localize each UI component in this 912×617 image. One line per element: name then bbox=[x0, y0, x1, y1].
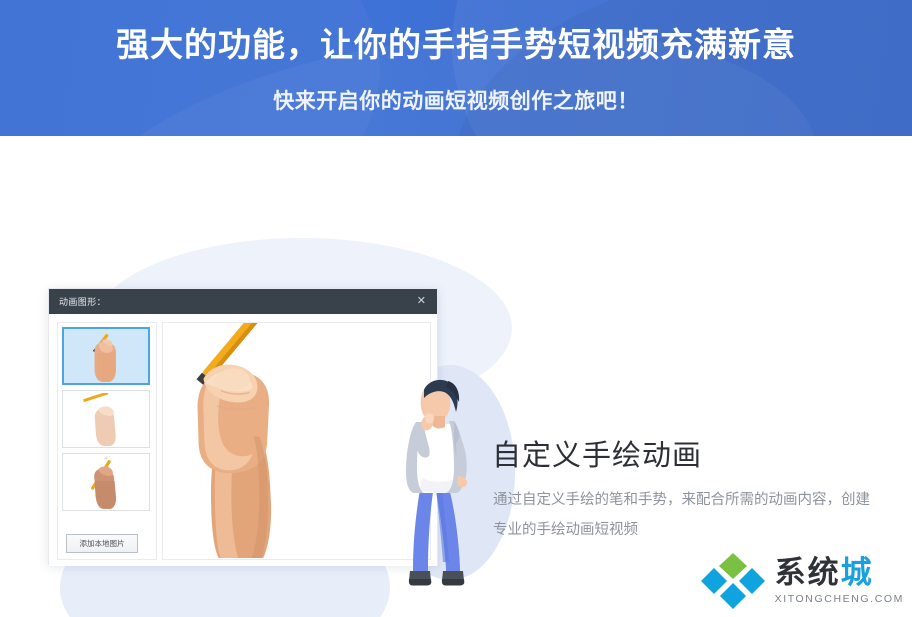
banner-wave-left bbox=[0, 0, 380, 136]
banner-wave-bottom bbox=[452, 0, 912, 136]
thinking-person-illustration bbox=[386, 372, 486, 588]
thumbnail-hand-pencil-side[interactable] bbox=[62, 390, 150, 448]
feature-description: 通过自定义手绘的笔和手势，来配合所需的动画内容，创建专业的手绘动画短视频 bbox=[493, 485, 883, 546]
feature-heading: 自定义手绘动画 bbox=[492, 432, 702, 474]
thumbnail-hand-pencil-dark[interactable] bbox=[62, 453, 150, 511]
add-local-image-button[interactable]: 添加本地图片 bbox=[66, 534, 138, 553]
watermark-title-blue: 城 bbox=[841, 555, 874, 590]
watermark-domain: XITONGCHENG.COM bbox=[775, 593, 904, 605]
banner-wave-curve bbox=[42, 0, 842, 136]
animation-shape-dialog: 动画图形： ✕ bbox=[48, 288, 438, 565]
banner-title: 强大的功能，让你的手指手势短视频充满新意 bbox=[0, 24, 912, 65]
dialog-title: 动画图形： bbox=[59, 295, 106, 308]
watermark-title-dark: 系统 bbox=[775, 555, 841, 590]
hand-pencil-side-icon bbox=[83, 393, 129, 447]
watermark-title: 系统城 bbox=[775, 557, 904, 588]
banner-subtitle: 快来开启你的动画短视频创作之旅吧！ bbox=[0, 85, 912, 115]
thumbnail-hand-pencil-upright[interactable] bbox=[62, 327, 150, 385]
hand-pencil-icon bbox=[86, 329, 126, 383]
xitongcheng-diamond-logo bbox=[697, 551, 769, 611]
watermark-text: 系统城 XITONGCHENG.COM bbox=[775, 557, 904, 605]
dialog-titlebar: 动画图形： ✕ bbox=[49, 289, 437, 314]
close-icon[interactable]: ✕ bbox=[412, 294, 431, 309]
dialog-body: 添加本地图片 bbox=[49, 314, 437, 566]
hand-pencil-dark-icon bbox=[85, 456, 127, 510]
banner-wave-top-right bbox=[452, 0, 912, 136]
header-banner: 强大的功能，让你的手指手势短视频充满新意 快来开启你的动画短视频创作之旅吧！ bbox=[0, 0, 912, 136]
thumbnail-panel[interactable]: 添加本地图片 bbox=[57, 322, 157, 560]
watermark: 系统城 XITONGCHENG.COM bbox=[697, 551, 904, 611]
